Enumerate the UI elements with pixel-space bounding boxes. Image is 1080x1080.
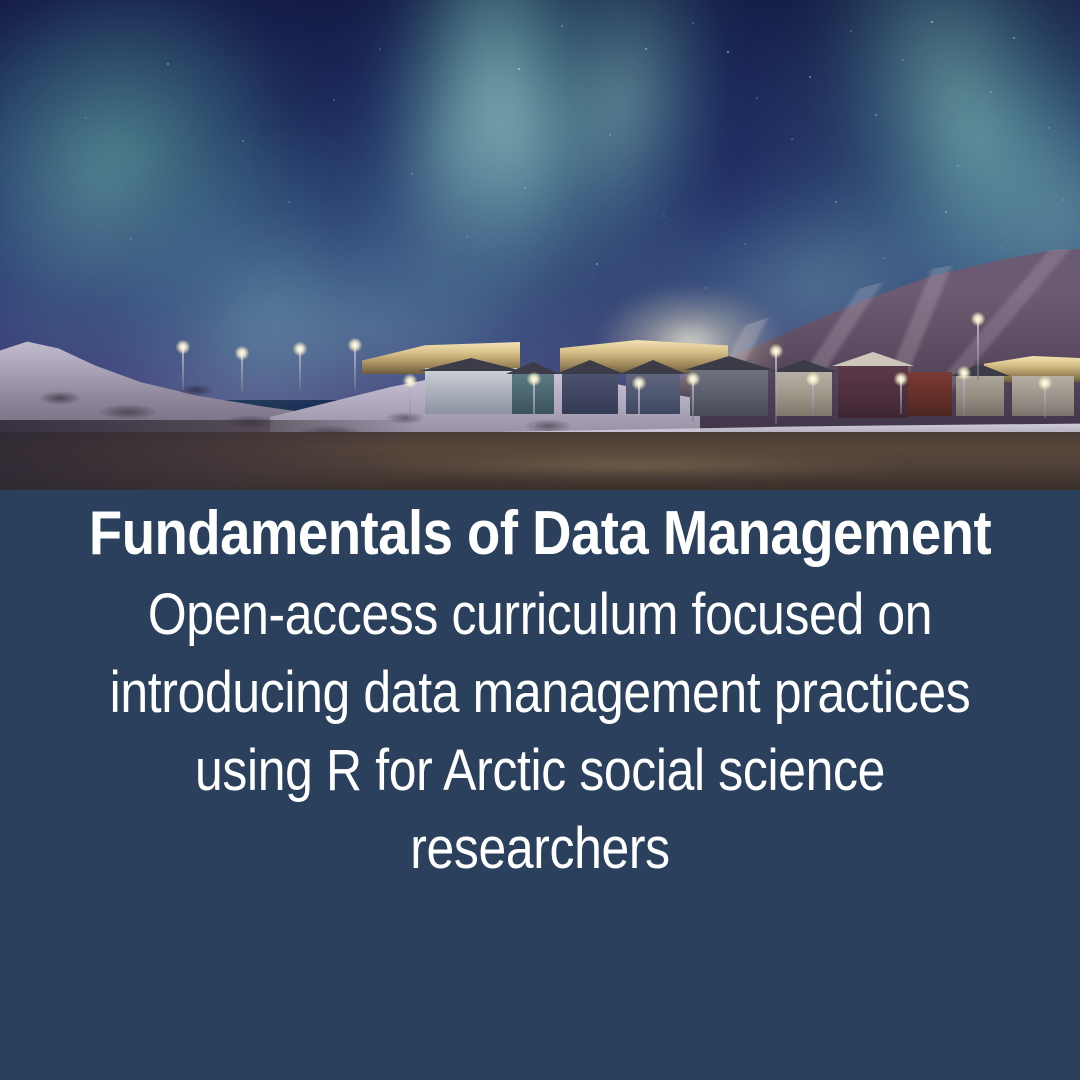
hero-image (0, 0, 1080, 490)
house-block-6 (776, 370, 832, 416)
street-lamp-5 (409, 380, 411, 420)
promo-card: Fundamentals of Data Management Open-acc… (0, 0, 1080, 1080)
subtitle-line-1: Open-access curriculum focused on (105, 576, 975, 654)
street-lamp-4 (354, 344, 356, 390)
street-lamp-12 (963, 372, 965, 416)
street-lamp-3 (299, 348, 301, 390)
aurora-night-photo (0, 0, 1080, 490)
street-lamp-2 (241, 352, 243, 392)
house-block-red (908, 372, 952, 416)
page-subtitle: Open-access curriculum focused on introd… (0, 568, 1080, 888)
street-lamp-8 (692, 378, 694, 422)
street-lamp-1 (182, 346, 184, 390)
text-panel: Fundamentals of Data Management Open-acc… (0, 490, 1080, 1080)
subtitle-line-3: using R for Arctic social science (105, 732, 975, 810)
house-block-1 (425, 368, 517, 414)
page-title: Fundamentals of Data Management (65, 490, 1015, 568)
street-lamp-6 (533, 378, 535, 440)
subtitle-line-2: introducing data management practices (105, 654, 975, 732)
street-lamp-9 (775, 350, 777, 424)
road-light-sheen (380, 452, 900, 478)
street-lamp-10 (812, 378, 814, 416)
street-lamp-13 (977, 318, 979, 380)
house-block-3 (562, 372, 618, 414)
house-block-5 (690, 368, 768, 416)
street-lamp-11 (900, 378, 902, 414)
subtitle-line-4: researchers (105, 810, 975, 888)
street-lamp-14 (1044, 382, 1046, 418)
